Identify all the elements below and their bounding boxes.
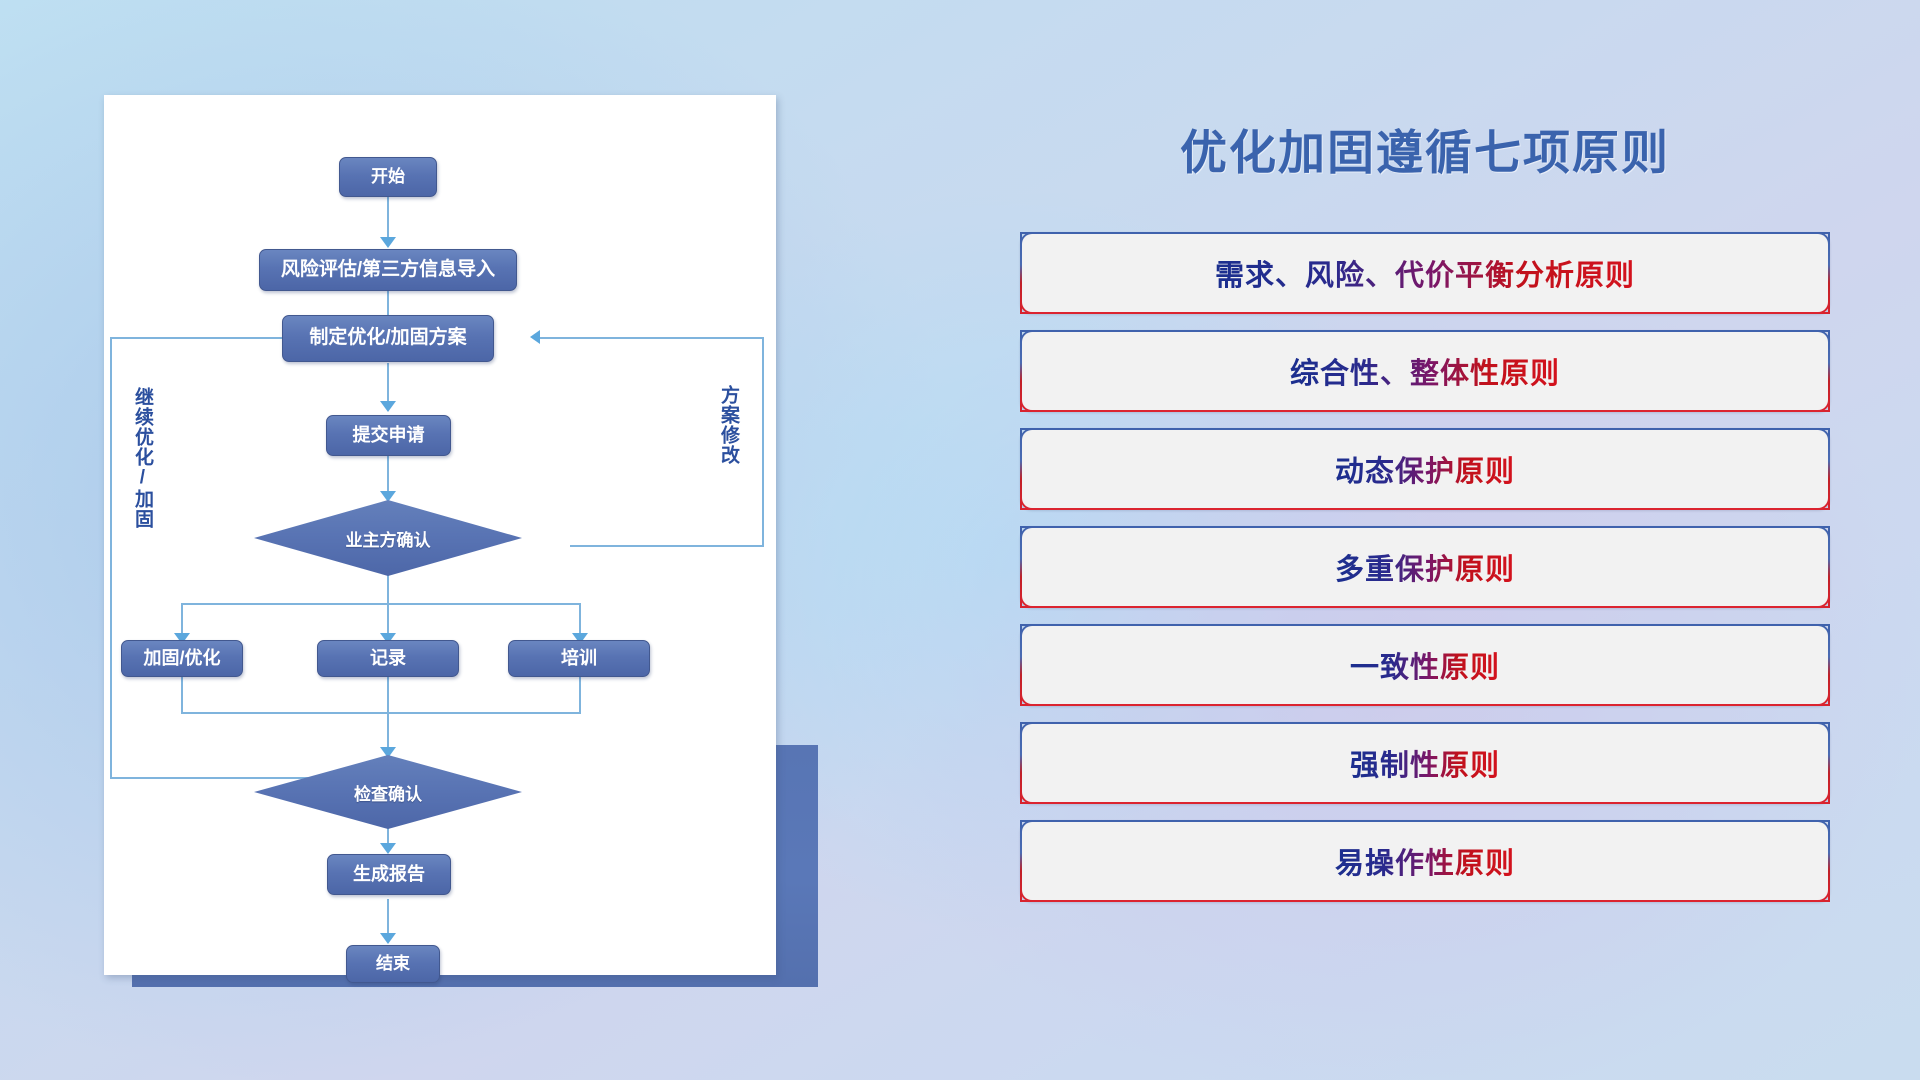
edge-label-right-loop: 方案修改: [718, 385, 738, 465]
principle-card-label: 一致性原则: [1350, 644, 1500, 686]
node-owner-confirm[interactable]: 业主方确认: [254, 500, 522, 576]
connector-merge-to-check: [387, 676, 389, 756]
principle-card-label: 需求、风险、代价平衡分析原则: [1215, 252, 1635, 294]
connector-right-loop-vertical: [762, 337, 764, 545]
arrow-check-to-report: [380, 843, 396, 854]
node-generate-report[interactable]: 生成报告: [327, 854, 451, 895]
principles-panel: 优化加固遵循七项原则 需求、风险、代价平衡分析原则 综合性、整体性原则 动态保护…: [1020, 90, 1830, 1020]
node-training[interactable]: 培训: [508, 640, 650, 677]
node-check-confirm[interactable]: 检查确认: [254, 755, 522, 829]
principles-list: 需求、风险、代价平衡分析原则 综合性、整体性原则 动态保护原则 多重保护原则 一…: [1020, 232, 1830, 918]
principle-card-label: 强制性原则: [1350, 742, 1500, 784]
arrow-report-to-end: [380, 933, 396, 944]
node-submit-application[interactable]: 提交申请: [326, 415, 451, 456]
principle-card-5[interactable]: 一致性原则: [1020, 624, 1830, 706]
principle-card-label: 多重保护原则: [1335, 546, 1515, 588]
node-end[interactable]: 结束: [346, 945, 440, 983]
arrow-plan-to-submit: [380, 401, 396, 412]
connector-fanout-bus: [181, 603, 581, 605]
node-start[interactable]: 开始: [339, 157, 437, 197]
connector-left-loop-vertical: [110, 337, 112, 779]
principle-card-1[interactable]: 需求、风险、代价平衡分析原则: [1020, 232, 1830, 314]
arrow-into-plan-right: [530, 330, 540, 344]
principle-card-7[interactable]: 易操作性原则: [1020, 820, 1830, 902]
principle-card-2[interactable]: 综合性、整体性原则: [1020, 330, 1830, 412]
slide-canvas: 继续优化/加固 方案修改 开始 风险评估/第三方信息导入 制定优化/加固方案 提…: [0, 0, 1920, 1080]
principle-card-6[interactable]: 强制性原则: [1020, 722, 1830, 804]
principle-card-label: 综合性、整体性原则: [1290, 350, 1560, 392]
principle-card-4[interactable]: 多重保护原则: [1020, 526, 1830, 608]
connector-training-down: [579, 676, 581, 714]
connector-right-loop-bottom: [570, 545, 764, 547]
node-check-confirm-label: 检查确认: [354, 780, 422, 805]
node-risk-assessment[interactable]: 风险评估/第三方信息导入: [259, 249, 517, 291]
arrow-start-to-risk: [380, 237, 396, 248]
edge-label-left-loop: 继续优化/加固: [132, 387, 152, 529]
connector-owner-down: [387, 575, 389, 605]
principle-card-label: 动态保护原则: [1335, 448, 1515, 490]
node-make-plan[interactable]: 制定优化/加固方案: [282, 315, 494, 362]
principle-card-3[interactable]: 动态保护原则: [1020, 428, 1830, 510]
node-owner-confirm-label: 业主方确认: [346, 526, 431, 551]
node-record[interactable]: 记录: [317, 640, 459, 677]
flowchart-card: 继续优化/加固 方案修改 开始 风险评估/第三方信息导入 制定优化/加固方案 提…: [104, 95, 776, 975]
connector-right-loop-top: [540, 337, 764, 339]
node-reinforce-optimize[interactable]: 加固/优化: [121, 640, 243, 677]
principle-card-label: 易操作性原则: [1335, 840, 1515, 882]
connector-merge-bus: [181, 712, 581, 714]
connector-reinforce-down: [181, 676, 183, 714]
page-title: 优化加固遵循七项原则: [1020, 114, 1830, 183]
